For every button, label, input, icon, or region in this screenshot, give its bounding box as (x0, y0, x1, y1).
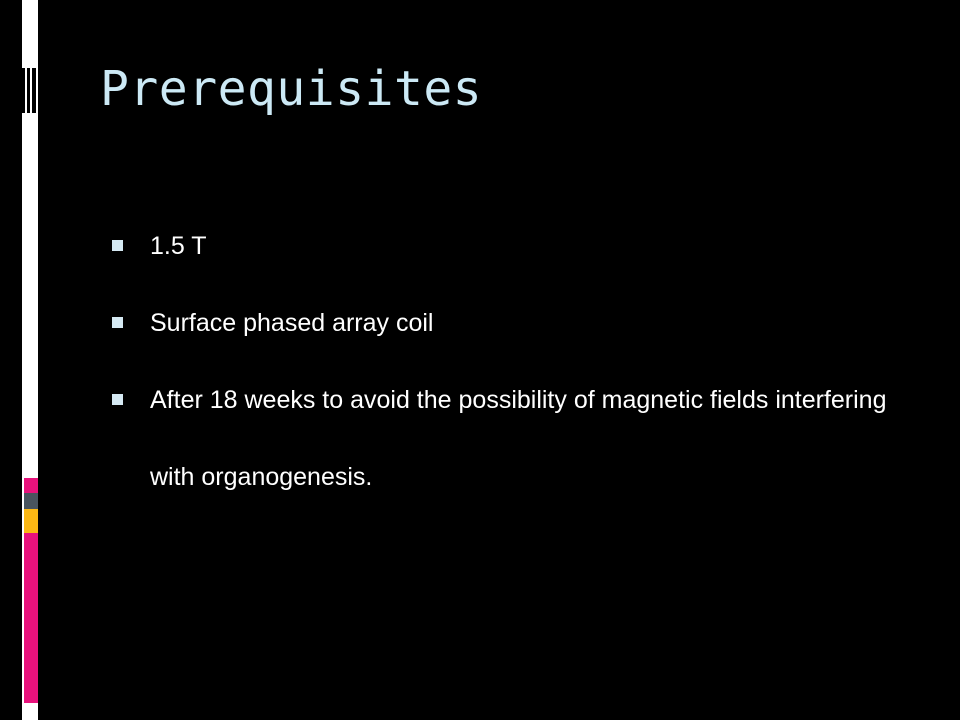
page-title: Prerequisites (100, 58, 482, 120)
bottom-swatch-decoration (24, 478, 38, 703)
magenta-bar-long (24, 533, 38, 703)
vertical-bar-1 (18, 68, 20, 113)
top-bar-decoration (16, 68, 40, 113)
vertical-bar-3 (27, 68, 30, 113)
magenta-swatch-top (24, 478, 38, 493)
bullet-list: 1.5 T Surface phased array coil After 18… (112, 208, 912, 516)
list-item: Surface phased array coil (112, 285, 912, 362)
square-bullet-icon (112, 317, 123, 328)
list-item-label: 1.5 T (150, 208, 912, 285)
list-item-label: After 18 weeks to avoid the possibility … (150, 362, 912, 516)
slide-canvas: Prerequisites 1.5 T Surface phased array… (0, 0, 960, 720)
vertical-bar-4 (32, 68, 36, 113)
amber-swatch (24, 509, 38, 533)
square-bullet-icon (112, 240, 123, 251)
square-bullet-icon (112, 394, 123, 405)
list-item-label: Surface phased array coil (150, 285, 912, 362)
vertical-bar-2 (22, 68, 25, 113)
slate-swatch (24, 493, 38, 509)
list-item: 1.5 T (112, 208, 912, 285)
list-item: After 18 weeks to avoid the possibility … (112, 362, 912, 516)
